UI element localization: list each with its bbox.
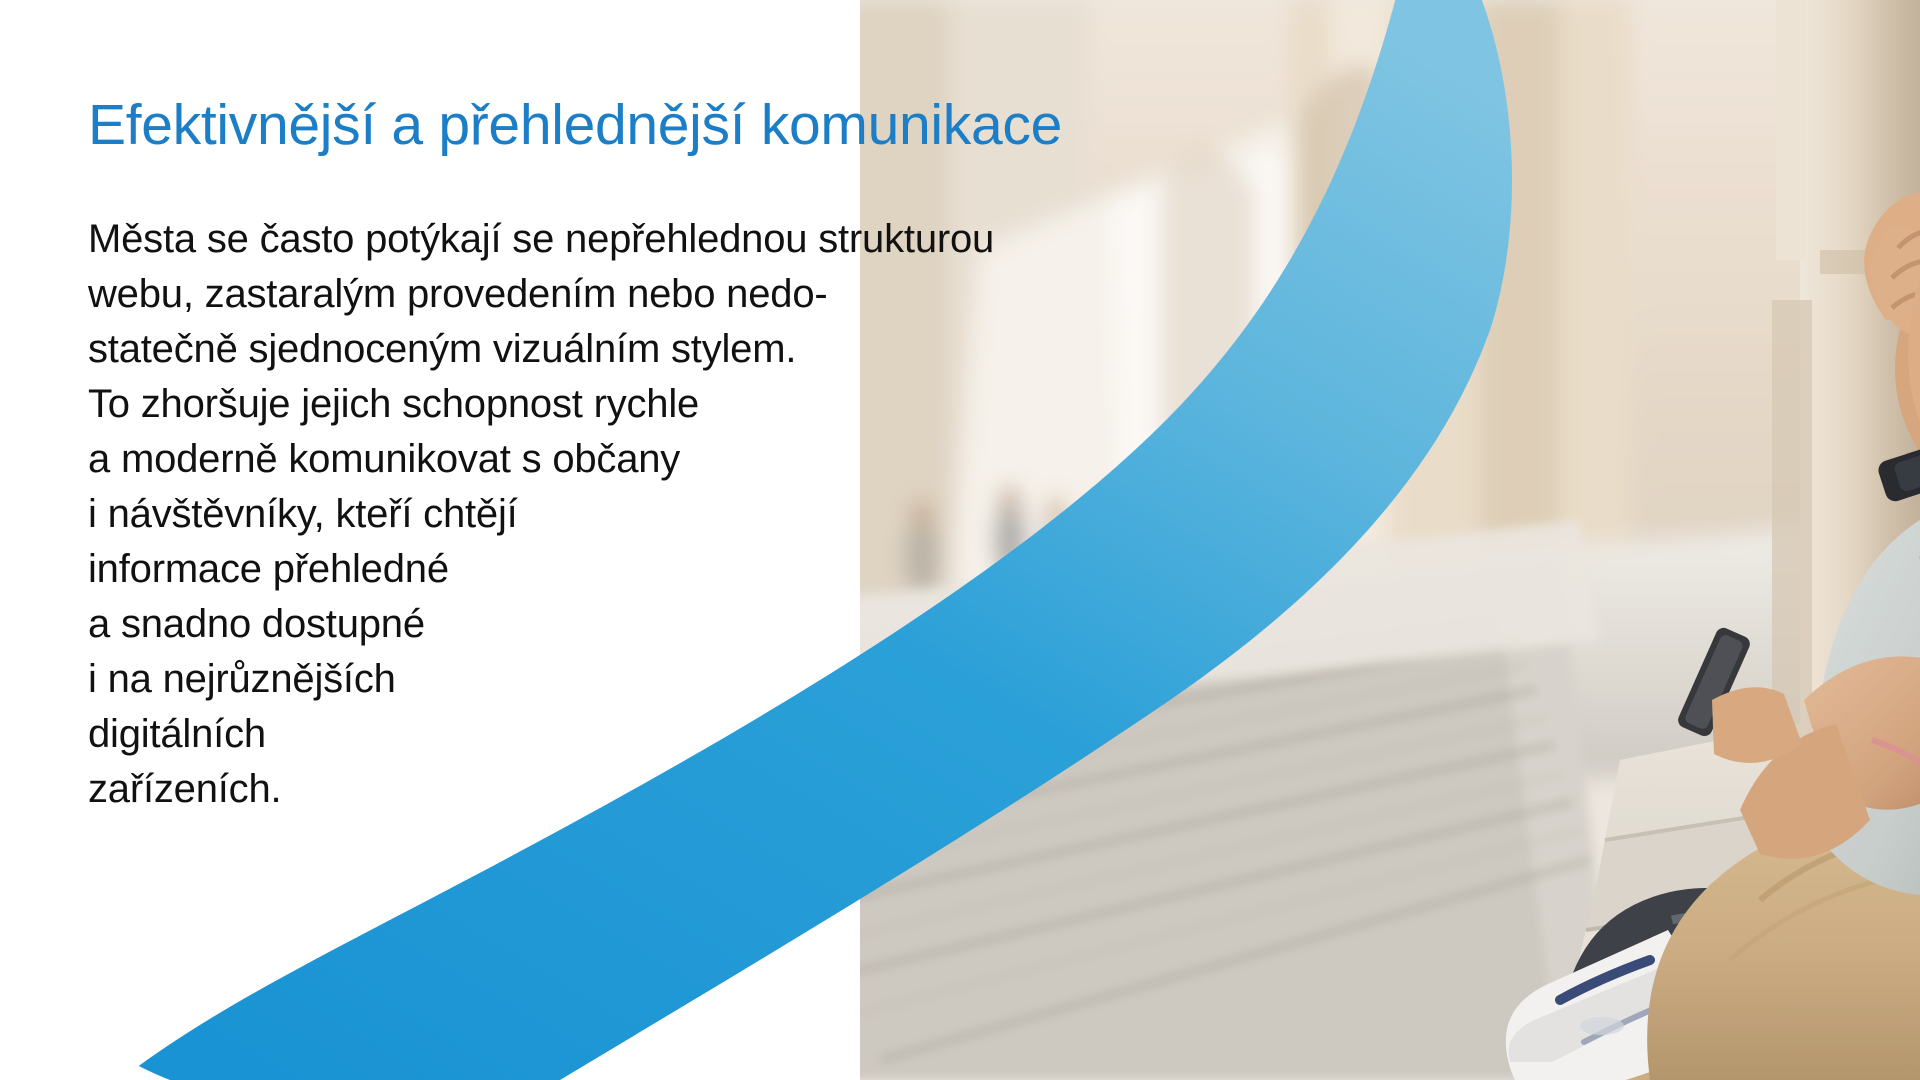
body-line: webu, zastaralým provedením nebo nedo- <box>88 267 1148 322</box>
body-line: i na nejrůznějších <box>88 652 1148 707</box>
body-line: digitálních <box>88 707 1148 762</box>
body-line: Města se často potýkají se nepřehlednou … <box>88 212 1148 267</box>
body-line: i návštěvníky, kteří chtějí <box>88 487 1148 542</box>
body-line: a moderně komunikovat s občany <box>88 432 1148 487</box>
body-paragraph: Města se často potýkají se nepřehlednou … <box>88 212 1148 817</box>
body-line: zařízeních. <box>88 762 1148 817</box>
body-line: informace přehledné <box>88 542 1148 597</box>
body-line: To zhoršuje jejich schopnost rychle <box>88 377 1148 432</box>
body-line: statečně sjednoceným vizuálním stylem. <box>88 322 1148 377</box>
slide-root: Efektivnější a přehlednější komunikace M… <box>0 0 1920 1080</box>
text-column: Efektivnější a přehlednější komunikace M… <box>88 96 1148 817</box>
body-line: a snadno dostupné <box>88 597 1148 652</box>
page-title: Efektivnější a přehlednější komunikace <box>88 96 1148 156</box>
